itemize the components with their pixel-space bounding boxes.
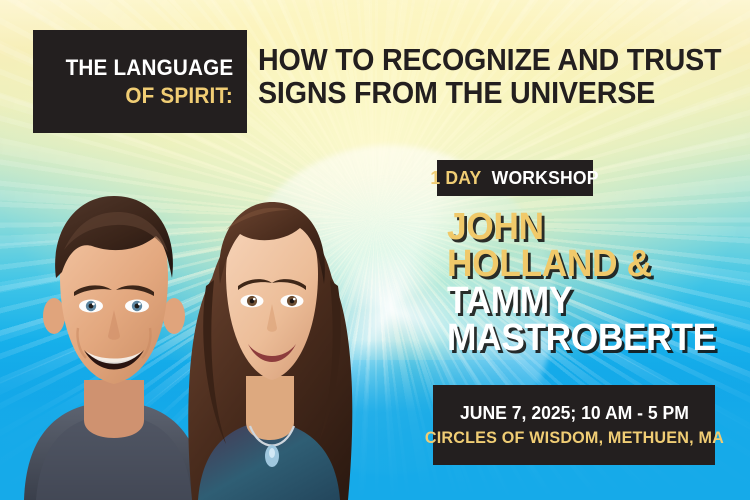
- presenter-name-line-2: HOLLAND &: [447, 246, 726, 283]
- event-venue: CIRCLES OF WISDOM, METHUEN, MA: [424, 428, 723, 448]
- event-datetime: JUNE 7, 2025; 10 AM - 5 PM: [460, 402, 689, 424]
- headline-line-2: SIGNS FROM THE UNIVERSE: [258, 77, 715, 110]
- badge-highlight-text: 1 DAY: [430, 167, 481, 189]
- event-promo-banner: THE LANGUAGE OF SPIRIT: HOW TO RECOGNIZE…: [0, 0, 750, 500]
- badge-rest-text: WORKSHOP: [486, 167, 599, 189]
- tammy-mastroberte-portrait: [168, 170, 368, 500]
- eyebrow-line-2: OF SPIRIT:: [125, 82, 233, 109]
- headline-line-1: HOW TO RECOGNIZE AND TRUST: [258, 44, 715, 77]
- workshop-badge: 1 DAY WORKSHOP: [437, 160, 593, 196]
- presenter-name-line-1: JOHN: [447, 209, 726, 246]
- presenter-name-line-3: TAMMY: [447, 283, 726, 320]
- presenter-name-line-4: MASTROBERTE: [447, 320, 726, 357]
- presenter-portraits: [0, 160, 400, 500]
- event-details-box: JUNE 7, 2025; 10 AM - 5 PM CIRCLES OF WI…: [433, 385, 715, 465]
- eyebrow-title-box: THE LANGUAGE OF SPIRIT:: [33, 30, 247, 133]
- eyebrow-line-1: THE LANGUAGE: [65, 54, 233, 81]
- page-title: HOW TO RECOGNIZE AND TRUST SIGNS FROM TH…: [258, 44, 715, 109]
- presenter-names: JOHN HOLLAND & TAMMY MASTROBERTE: [447, 209, 747, 356]
